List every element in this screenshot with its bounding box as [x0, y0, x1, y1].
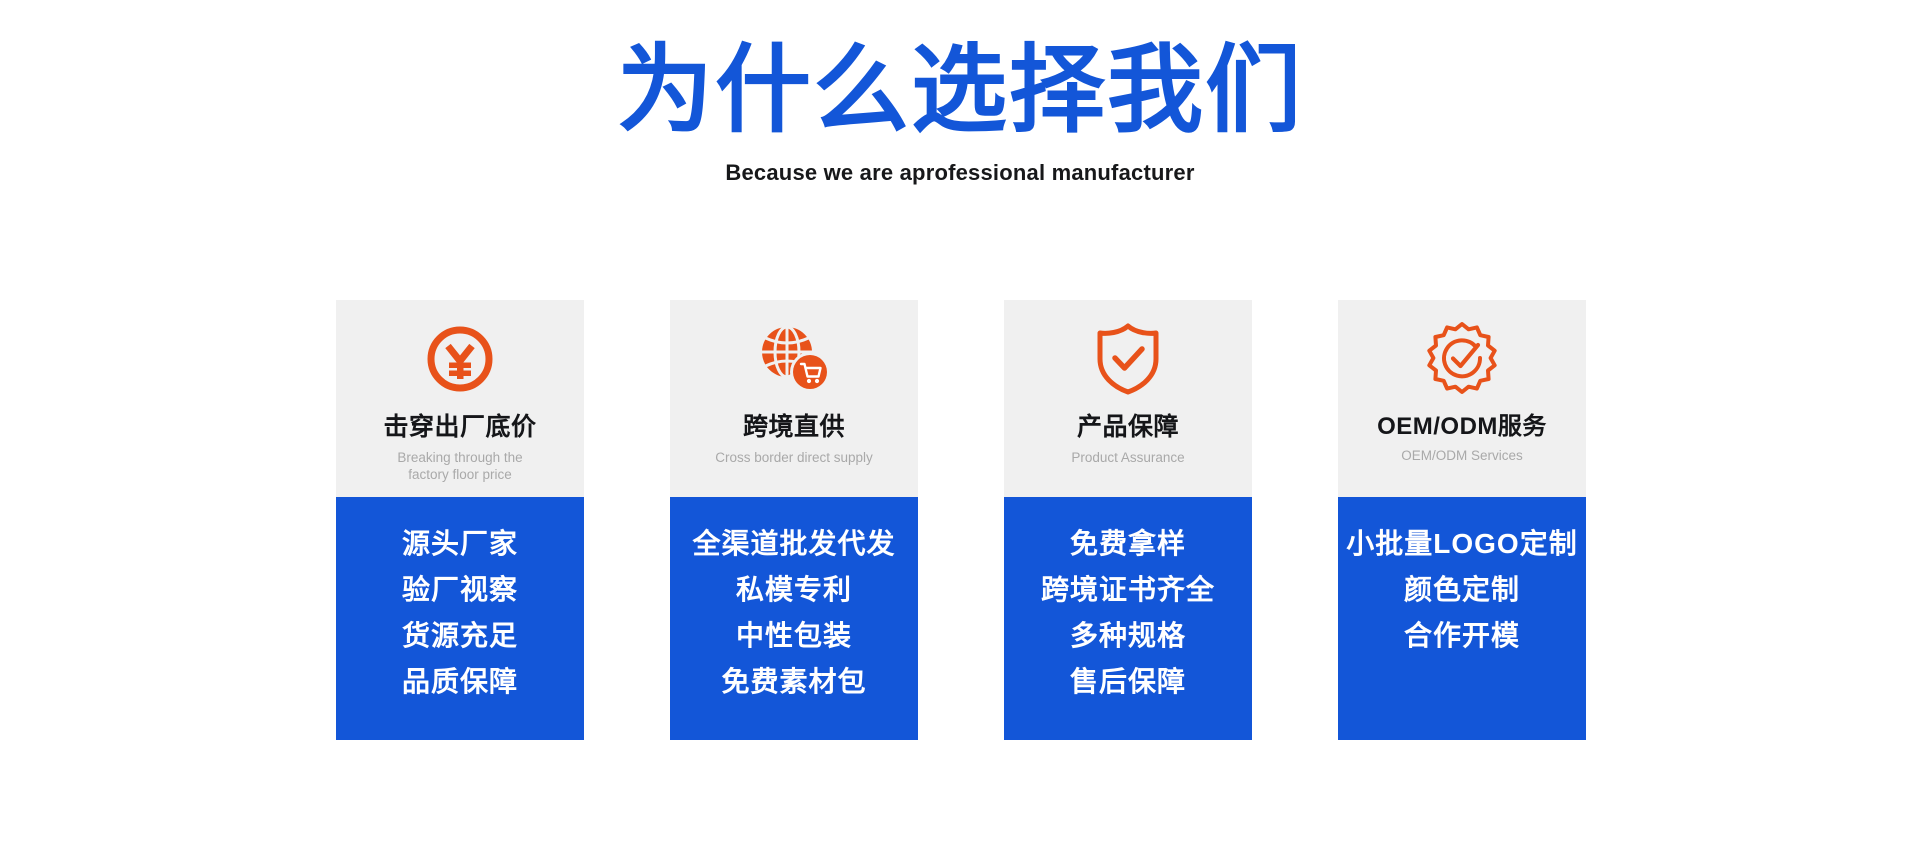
card-title: 产品保障 — [1077, 414, 1179, 442]
card-header-cross-border: 跨境直供 Cross border direct supply — [670, 300, 918, 497]
globe-cart-icon — [756, 318, 832, 400]
feature-card-cross-border[interactable]: 跨境直供 Cross border direct supply 全渠道批发代发 … — [670, 300, 918, 740]
yen-circle-icon — [424, 318, 496, 400]
card-features-factory-price: 源头厂家 验厂视察 货源充足 品质保障 — [336, 497, 584, 740]
feature-item: 全渠道批发代发 — [692, 521, 895, 567]
card-subtitle: Breaking through the factory floor price — [397, 449, 522, 484]
card-header-factory-price: 击穿出厂底价 Breaking through the factory floo… — [336, 300, 584, 497]
card-subtitle: OEM/ODM Services — [1401, 447, 1523, 464]
feature-item: 免费素材包 — [721, 659, 866, 705]
card-features-product-assurance: 免费拿样 跨境证书齐全 多种规格 售后保障 — [1004, 497, 1252, 740]
feature-card-oem-odm[interactable]: OEM/ODM服务 OEM/ODM Services 小批量LOGO定制 颜色定… — [1338, 300, 1586, 740]
feature-item: 小批量LOGO定制 — [1346, 521, 1577, 567]
feature-item: 货源充足 — [402, 613, 518, 659]
card-subtitle: Cross border direct supply — [715, 449, 873, 466]
card-header-oem-odm: OEM/ODM服务 OEM/ODM Services — [1338, 300, 1586, 497]
card-title: 跨境直供 — [743, 414, 845, 442]
feature-item: 中性包装 — [736, 613, 852, 659]
feature-item: 跨境证书齐全 — [1041, 567, 1215, 613]
feature-item: 私模专利 — [736, 567, 852, 613]
feature-item: 验厂视察 — [402, 567, 518, 613]
page-title: 为什么选择我们 — [0, 40, 1920, 142]
card-subtitle: Product Assurance — [1071, 449, 1184, 466]
feature-item: 品质保障 — [402, 659, 518, 705]
shield-check-icon — [1093, 318, 1163, 400]
card-subtitle-line2: factory floor price — [408, 467, 512, 482]
card-features-oem-odm: 小批量LOGO定制 颜色定制 合作开模 — [1338, 497, 1586, 740]
card-features-cross-border: 全渠道批发代发 私模专利 中性包装 免费素材包 — [670, 497, 918, 740]
card-subtitle-line1: OEM/ODM Services — [1401, 448, 1523, 463]
feature-item: 售后保障 — [1070, 659, 1186, 705]
card-title: OEM/ODM服务 — [1377, 414, 1547, 440]
page-subtitle: Because we are aprofessional manufacture… — [0, 160, 1920, 186]
feature-item: 免费拿样 — [1070, 521, 1186, 567]
feature-item: 颜色定制 — [1404, 567, 1520, 613]
card-subtitle-line1: Cross border direct supply — [715, 450, 873, 465]
feature-item: 源头厂家 — [402, 521, 518, 567]
badge-check-icon — [1424, 318, 1500, 400]
card-subtitle-line1: Breaking through the — [397, 450, 522, 465]
feature-cards-row: 击穿出厂底价 Breaking through the factory floo… — [336, 300, 1586, 740]
card-title: 击穿出厂底价 — [383, 414, 536, 442]
feature-card-product-assurance[interactable]: 产品保障 Product Assurance 免费拿样 跨境证书齐全 多种规格 … — [1004, 300, 1252, 740]
feature-item: 多种规格 — [1070, 613, 1186, 659]
card-subtitle-line1: Product Assurance — [1071, 450, 1184, 465]
why-choose-us-section: 为什么选择我们 Because we are aprofessional man… — [0, 0, 1920, 861]
card-header-product-assurance: 产品保障 Product Assurance — [1004, 300, 1252, 497]
feature-card-factory-price[interactable]: 击穿出厂底价 Breaking through the factory floo… — [336, 300, 584, 740]
feature-item: 合作开模 — [1404, 613, 1520, 659]
section-header: 为什么选择我们 Because we are aprofessional man… — [0, 40, 1920, 186]
